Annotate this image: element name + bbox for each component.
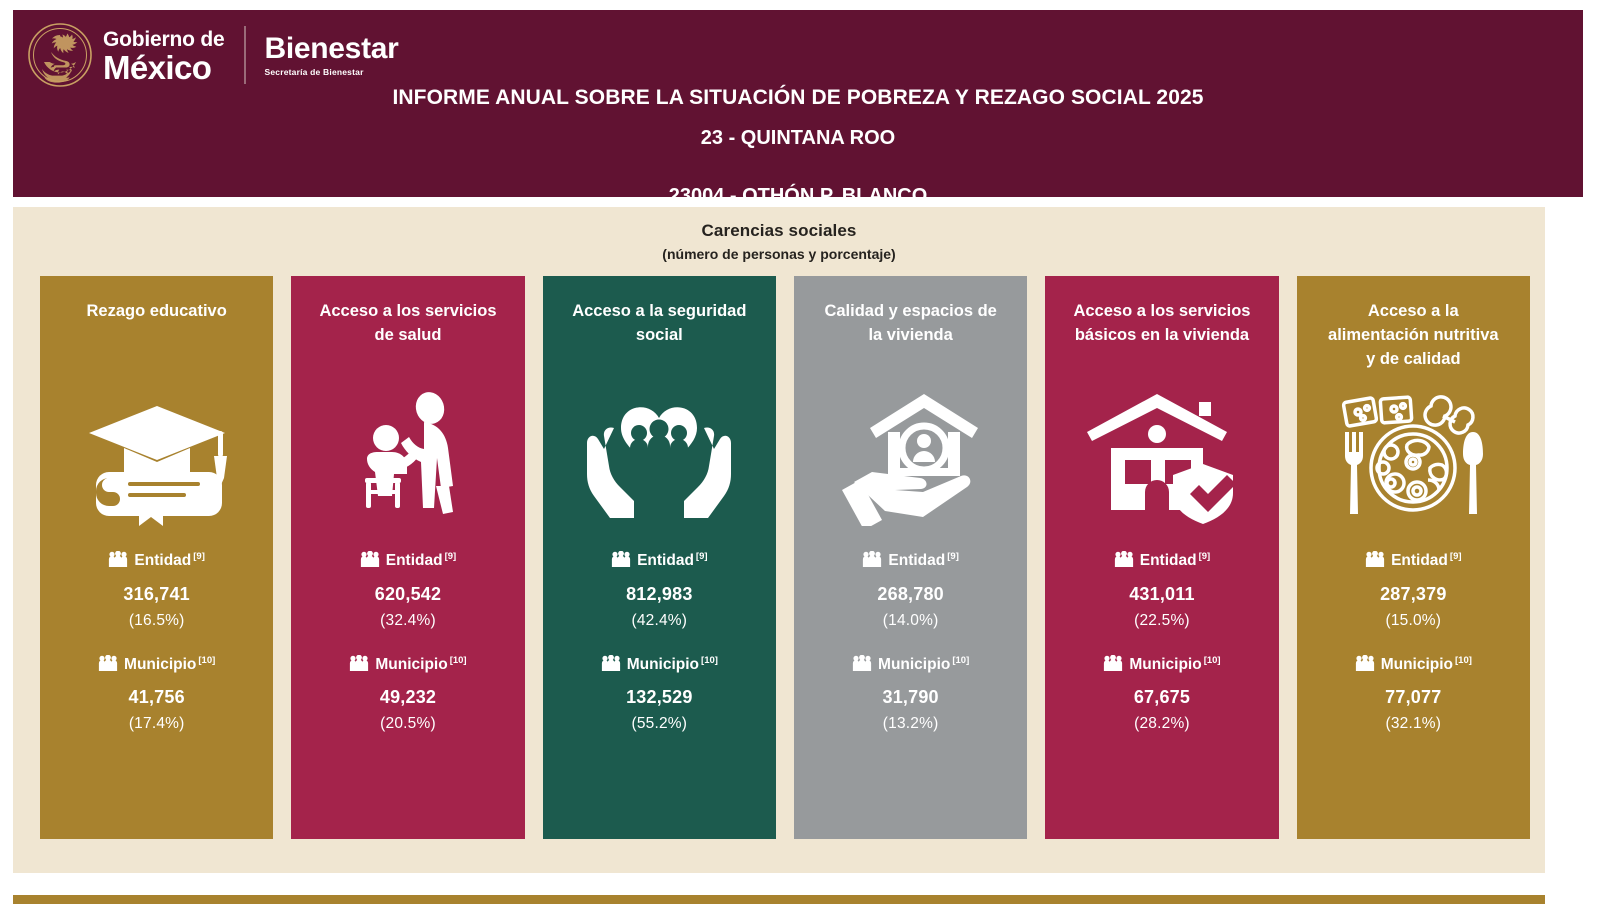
entidad-label-row: Entidad[9] <box>108 552 204 572</box>
municipio-percent: (28.2%) <box>1103 715 1220 733</box>
entidad-stat-block: Entidad[9] 287,379 (15.0%) <box>1365 552 1461 630</box>
entidad-label: Entidad <box>134 552 191 569</box>
panel-title-group: Carencias sociales (número de personas y… <box>13 207 1545 262</box>
entidad-label-row: Entidad[9] <box>360 552 456 572</box>
municipio-footnote: [10] <box>450 655 467 666</box>
card-title-line-2: la vivienda <box>868 326 952 344</box>
people-group-icon <box>108 551 128 572</box>
card-title-line-1: Calidad y espacios de <box>824 302 996 320</box>
municipio-percent: (32.1%) <box>1355 715 1472 733</box>
secretariat-name: Bienestar <box>264 34 398 64</box>
municipio-footnote: [10] <box>1455 655 1472 666</box>
entidad-stat-block: Entidad[9] 620,542 (32.4%) <box>360 552 456 630</box>
municipio-percent: (20.5%) <box>349 715 466 733</box>
people-group-icon <box>360 551 380 572</box>
municipio-label-row: Municipio[10] <box>1103 656 1220 676</box>
card-title-line-2: básicos en la vivienda <box>1075 326 1249 344</box>
card-title-line-3: y de calidad <box>1366 350 1460 368</box>
entidad-label-row: Entidad[9] <box>1114 552 1210 572</box>
municipio-footnote: [10] <box>952 655 969 666</box>
entidad-stat-block: Entidad[9] 812,983 (42.4%) <box>611 552 707 630</box>
secretariat-subtitle: Secretaría de Bienestar <box>264 68 398 77</box>
entidad-value: 812,983 <box>611 584 707 605</box>
entidad-percent: (42.4%) <box>611 612 707 630</box>
gob-line-1: Gobierno de <box>103 29 224 50</box>
card-title-line-2: social <box>636 326 683 344</box>
municipio-value: 67,675 <box>1103 687 1220 708</box>
card-title: Acceso a la seguridad social <box>570 300 748 372</box>
municipio-percent: (55.2%) <box>601 715 718 733</box>
entidad-footnote: [9] <box>193 551 205 562</box>
municipio-value: 49,232 <box>349 687 466 708</box>
report-title: INFORME ANUAL SOBRE LA SITUACIÓN DE POBR… <box>13 86 1583 110</box>
people-group-icon <box>1103 655 1123 676</box>
entidad-value: 268,780 <box>862 584 958 605</box>
municipio-percent: (13.2%) <box>852 715 969 733</box>
card-title: Acceso a los servicios de salud <box>317 300 498 372</box>
municipio-percent: (17.4%) <box>98 715 215 733</box>
entidad-percent: (14.0%) <box>862 612 958 630</box>
card-title-line-1: Rezago educativo <box>87 302 227 320</box>
entidad-value: 431,011 <box>1114 584 1210 605</box>
people-group-icon <box>852 655 872 676</box>
card-title: Acceso a la alimentación nutritiva y de … <box>1326 300 1501 372</box>
card-title: Calidad y espacios de la vivienda <box>822 300 998 372</box>
house-shield-check-icon <box>1087 376 1237 536</box>
hands-heart-family-icon <box>584 376 734 536</box>
municipio-value: 77,077 <box>1355 687 1472 708</box>
people-group-icon <box>862 551 882 572</box>
entidad-label-row: Entidad[9] <box>862 552 958 572</box>
logo-divider <box>244 26 246 84</box>
municipio-footnote: [10] <box>701 655 718 666</box>
municipio-label-row: Municipio[10] <box>601 656 718 676</box>
entidad-percent: (16.5%) <box>108 612 204 630</box>
people-group-icon <box>611 551 631 572</box>
municipio-value: 132,529 <box>601 687 718 708</box>
government-logo-block: Gobierno de México Bienestar Secretaría … <box>27 16 399 94</box>
entidad-value: 287,379 <box>1365 584 1461 605</box>
entidad-percent: (15.0%) <box>1365 612 1461 630</box>
municipio-stat-block: Municipio[10] 132,529 (55.2%) <box>601 656 718 734</box>
municipio-label: Municipio <box>627 656 699 673</box>
entidad-label: Entidad <box>888 552 945 569</box>
card-title-line-1: Acceso a los servicios <box>319 302 496 320</box>
card-title-line-2: de salud <box>375 326 442 344</box>
municipio-stat-block: Municipio[10] 77,077 (32.1%) <box>1355 656 1472 734</box>
municipio-label: Municipio <box>878 656 950 673</box>
indicator-card-seguridad-social[interactable]: Acceso a la seguridad social <box>543 276 776 839</box>
indicator-card-grid: Rezago educativo <box>40 276 1530 839</box>
people-group-icon <box>1355 655 1375 676</box>
entidad-percent: (32.4%) <box>360 612 456 630</box>
gob-line-2: México <box>103 51 224 84</box>
indicator-card-servicios-basicos-vivienda[interactable]: Acceso a los servicios básicos en la viv… <box>1045 276 1278 839</box>
people-group-icon <box>1365 551 1385 572</box>
municipio-footnote: [10] <box>1204 655 1221 666</box>
municipio-stat-block: Municipio[10] 67,675 (28.2%) <box>1103 656 1220 734</box>
municipio-stat-block: Municipio[10] 49,232 (20.5%) <box>349 656 466 734</box>
people-group-icon <box>1114 551 1134 572</box>
entidad-label: Entidad <box>1140 552 1197 569</box>
indicator-card-rezago-educativo[interactable]: Rezago educativo <box>40 276 273 839</box>
card-title-line-1: Acceso a la seguridad <box>572 302 746 320</box>
entidad-footnote: [9] <box>1199 551 1211 562</box>
municipio-label: Municipio <box>124 656 196 673</box>
entidad-footnote: [9] <box>696 551 708 562</box>
entidad-percent: (22.5%) <box>1114 612 1210 630</box>
entidad-footnote: [9] <box>445 551 457 562</box>
indicator-card-alimentacion-nutritiva[interactable]: Acceso a la alimentación nutritiva y de … <box>1297 276 1530 839</box>
card-title: Acceso a los servicios básicos en la viv… <box>1071 300 1252 372</box>
municipio-label: Municipio <box>1381 656 1453 673</box>
municipio-label: Municipio <box>375 656 447 673</box>
entidad-value: 620,542 <box>360 584 456 605</box>
card-title: Rezago educativo <box>85 300 229 372</box>
entidad-label: Entidad <box>1391 552 1448 569</box>
plate-fork-knife-food-icon <box>1333 376 1493 536</box>
entidad-stat-block: Entidad[9] 431,011 (22.5%) <box>1114 552 1210 630</box>
carencias-sociales-panel: Carencias sociales (número de personas y… <box>13 207 1545 873</box>
municipio-label-row: Municipio[10] <box>98 656 215 676</box>
panel-title: Carencias sociales <box>13 221 1545 241</box>
secretariat-wordmark: Bienestar Secretaría de Bienestar <box>264 34 398 77</box>
indicator-card-servicios-salud[interactable]: Acceso a los servicios de salud <box>291 276 524 839</box>
graduation-cap-book-icon <box>82 376 232 536</box>
municipio-label-row: Municipio[10] <box>1355 656 1472 676</box>
indicator-card-calidad-vivienda[interactable]: Calidad y espacios de la vivienda <box>794 276 1027 839</box>
entidad-stat-block: Entidad[9] 268,780 (14.0%) <box>862 552 958 630</box>
entidad-value: 316,741 <box>108 584 204 605</box>
municipio-value: 31,790 <box>852 687 969 708</box>
entidad-footnote: [9] <box>947 551 959 562</box>
entidad-label: Entidad <box>637 552 694 569</box>
panel-subtitle: (número de personas y porcentaje) <box>13 246 1545 262</box>
card-title-line-1: Acceso a la <box>1368 302 1459 320</box>
doctor-patient-icon <box>338 376 478 536</box>
header-title-group: INFORME ANUAL SOBRE LA SITUACIÓN DE POBR… <box>13 86 1583 211</box>
municipio-label-row: Municipio[10] <box>349 656 466 676</box>
footer-accent-bar <box>13 895 1545 904</box>
hand-holding-house-person-icon <box>836 376 986 536</box>
entidad-stat-block: Entidad[9] 316,741 (16.5%) <box>108 552 204 630</box>
people-group-icon <box>601 655 621 676</box>
mexican-eagle-emblem-icon <box>27 22 93 88</box>
municipio-footnote: [10] <box>198 655 215 666</box>
entidad-label-row: Entidad[9] <box>611 552 707 572</box>
municipio-label: Municipio <box>1129 656 1201 673</box>
government-wordmark: Gobierno de México <box>103 27 224 84</box>
page-header: Gobierno de México Bienestar Secretaría … <box>13 10 1583 197</box>
card-title-line-2: alimentación nutritiva <box>1328 326 1499 344</box>
municipio-stat-block: Municipio[10] 31,790 (13.2%) <box>852 656 969 734</box>
municipio-stat-block: Municipio[10] 41,756 (17.4%) <box>98 656 215 734</box>
state-line: 23 - QUINTANA ROO <box>13 127 1583 150</box>
entidad-label-row: Entidad[9] <box>1365 552 1461 572</box>
people-group-icon <box>349 655 369 676</box>
municipio-label-row: Municipio[10] <box>852 656 969 676</box>
entidad-label: Entidad <box>386 552 443 569</box>
card-title-line-1: Acceso a los servicios <box>1073 302 1250 320</box>
report-page: Gobierno de México Bienestar Secretaría … <box>0 0 1600 923</box>
municipio-value: 41,756 <box>98 687 215 708</box>
entidad-footnote: [9] <box>1450 551 1462 562</box>
people-group-icon <box>98 655 118 676</box>
